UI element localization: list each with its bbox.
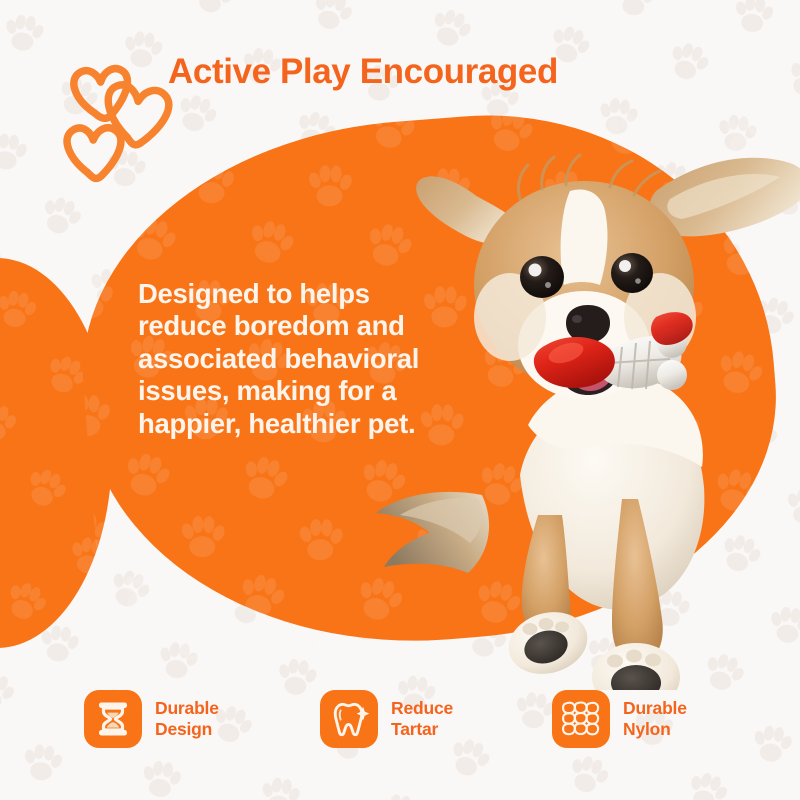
nylon-weave-grid-icon: [552, 690, 610, 748]
feature-label-line1: Durable: [623, 698, 687, 719]
body-line-1: Designed to helps: [138, 278, 478, 310]
body-line-5: happier, healthier pet.: [138, 408, 478, 440]
feature-durable-design[interactable]: Durable Design: [84, 690, 320, 748]
feature-durable-nylon[interactable]: Durable Nylon: [552, 690, 752, 748]
promo-banner: Active Play Encouraged Designed to helps…: [0, 0, 800, 800]
body-line-3: associated behavioral: [138, 343, 478, 375]
feature-label-line2: Design: [155, 719, 219, 740]
feature-label-line2: Nylon: [623, 719, 687, 740]
feature-label: Reduce Tartar: [391, 698, 453, 741]
page-title: Active Play Encouraged: [168, 52, 558, 92]
feature-label: Durable Design: [155, 698, 219, 741]
feature-label: Durable Nylon: [623, 698, 687, 741]
feature-reduce-tartar[interactable]: Reduce Tartar: [320, 690, 552, 748]
body-paragraph: Designed to helps reduce boredom and ass…: [138, 278, 478, 440]
tooth-sparkle-icon: [320, 690, 378, 748]
feature-badge-row: Durable Design Reduce Tartar: [0, 690, 800, 780]
feature-label-line1: Reduce: [391, 698, 453, 719]
body-line-2: reduce boredom and: [138, 310, 478, 342]
feature-label-line2: Tartar: [391, 719, 453, 740]
hourglass-icon: [84, 690, 142, 748]
feature-label-line1: Durable: [155, 698, 219, 719]
body-line-4: issues, making for a: [138, 375, 478, 407]
